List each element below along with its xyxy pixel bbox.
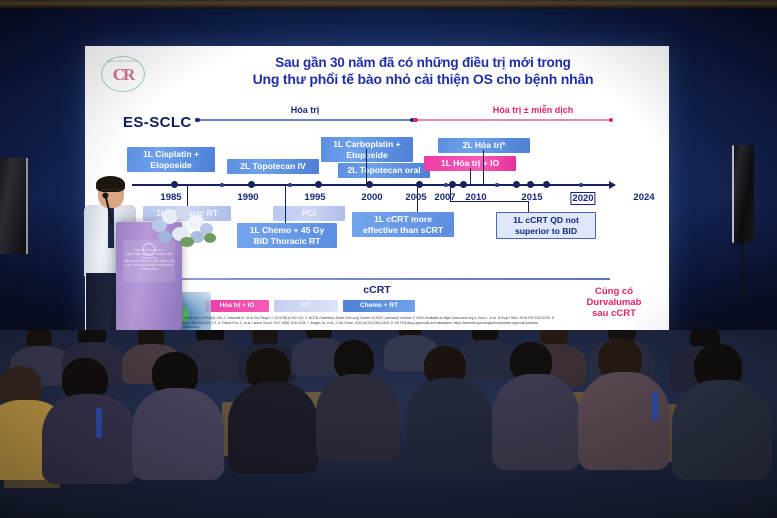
box-label: 2L Topotecan IV xyxy=(231,161,315,172)
minibar-chemo-rt: Chemo + RT xyxy=(343,300,415,312)
bracket-chemo xyxy=(197,119,412,121)
connector-chemo-bid xyxy=(285,186,286,223)
audience-shoulders xyxy=(132,388,224,480)
minibar-rt: RT xyxy=(274,300,338,312)
pa-speaker-left xyxy=(0,158,28,254)
audience-shoulders xyxy=(316,374,400,462)
box-1l-ccrt-qd-not-superior: 1L cCRT QD not superior to BID xyxy=(496,212,596,239)
main-timeline-axis: 1985 1990 1995 2000 2005 2007 2010 2015 … xyxy=(132,184,610,186)
references-text: 1. Tsoukalas N, et al. Ann Transl Med. 2… xyxy=(145,316,555,330)
box-pci: PCI xyxy=(273,206,345,221)
tick-1995 xyxy=(315,181,322,188)
logo-ring-text: BỆNH VIỆN CHỢ RẪY xyxy=(102,60,144,63)
minibar-label: Hóa trị + IO xyxy=(220,302,255,309)
year-2024: 2024 xyxy=(633,192,654,203)
box-1l-cisplatin-etoposide: 1L Cisplatin + Etoposide xyxy=(127,147,215,172)
year-1985: 1985 xyxy=(160,192,181,203)
audience-shoulders xyxy=(42,394,136,484)
audience xyxy=(0,330,777,518)
tick-1990 xyxy=(248,181,255,188)
year-2005: 2005 xyxy=(405,192,426,203)
tick-2000 xyxy=(366,181,373,188)
audience-shoulders xyxy=(578,372,670,470)
tick-minor-5 xyxy=(579,183,583,187)
tick-2007 xyxy=(460,181,467,188)
connector-carboplatin xyxy=(366,149,367,185)
box-label: 2L Topotecan oral xyxy=(342,165,426,176)
box-label: 1L Hóa trị + IO xyxy=(428,158,512,169)
photo-scene: BỆNH VIỆN CHỢ RẪY CR Sau gần 30 năm đã c… xyxy=(0,0,777,518)
connector-ccrt-qd-v1 xyxy=(450,187,451,201)
pa-speaker-stand xyxy=(741,243,744,297)
hospital-logo: BỆNH VIỆN CHỢ RẪY CR xyxy=(101,56,145,92)
audience-lanyard xyxy=(652,392,658,420)
tick-2020b xyxy=(527,181,534,188)
minibar-hoa-tri-io: Hóa trị + IO xyxy=(205,300,269,312)
slide-title-line1: Sau gần 30 năm đã có những điều trị mới … xyxy=(193,55,653,71)
audience-shoulders xyxy=(406,378,492,470)
connector-thoracic-rt xyxy=(187,186,188,206)
connector-ccrt-effective xyxy=(417,186,418,212)
pa-speaker-right xyxy=(732,145,754,243)
logo-monogram: CR xyxy=(113,66,134,83)
tick-1985 xyxy=(171,181,178,188)
audience-shoulders xyxy=(672,380,772,480)
box-1l-ccrt-more-effective: 1L cCRT more effective than sCRT xyxy=(352,212,454,237)
audience-shoulders xyxy=(458,340,514,380)
year-1990: 1990 xyxy=(237,192,258,203)
slide-title-line2: Ung thư phổi tế bào nhỏ cải thiện OS cho… xyxy=(193,71,653,87)
year-2020: 2020 xyxy=(570,192,595,205)
connector-ccrt-qd-v2 xyxy=(528,201,529,212)
connector-1l-io xyxy=(470,168,471,185)
bracket-chemo-label: Hóa trị xyxy=(291,105,320,115)
audience-shoulders xyxy=(492,374,580,470)
es-sclc-label: ES-SCLC xyxy=(123,114,192,131)
box-label: 2L Hóa trị* xyxy=(442,140,526,151)
bracket-chemo-io xyxy=(415,119,611,121)
audience-lanyard xyxy=(96,408,102,438)
year-1995: 1995 xyxy=(304,192,325,203)
box-label: 1L Chemo + 45 Gy BID Thoracic RT xyxy=(241,225,333,246)
tick-2020a xyxy=(513,181,520,188)
durvalumab-note: Củng cố Durvalumab sau cCRT xyxy=(571,286,657,319)
audience-shoulders xyxy=(228,382,318,474)
tick-minor-4 xyxy=(495,183,499,187)
box-label: 1L cCRT QD not superior to BID xyxy=(501,215,591,236)
minibar-label: Chemo + RT xyxy=(360,302,398,309)
box-label: PCI xyxy=(277,208,341,219)
box-2l-topotecan-oral: 2L Topotecan oral xyxy=(338,163,430,178)
minibar-label: RT xyxy=(302,302,311,309)
tick-2020c xyxy=(543,181,550,188)
box-2l-topotecan-iv: 2L Topotecan IV xyxy=(227,159,319,174)
bracket-chemo-io-label: Hóa trị ± miễn dịch xyxy=(493,105,573,115)
tick-minor-2 xyxy=(288,183,292,187)
box-label: 1L cCRT more effective than sCRT xyxy=(356,214,450,235)
box-label: 1L Cisplatin + Etoposide xyxy=(131,149,211,170)
ceiling-beam xyxy=(0,0,777,9)
slide-title: Sau gần 30 năm đã có những điều trị mới … xyxy=(193,55,653,87)
box-1l-chemo-45gy-bid: 1L Chemo + 45 Gy BID Thoracic RT xyxy=(237,223,337,248)
tick-minor-3 xyxy=(444,183,448,187)
flower-arrangement xyxy=(150,205,216,247)
connector-ccrt-qd-h xyxy=(450,201,529,202)
connector-2l-hoa-tri xyxy=(483,150,484,185)
ccrt-axis xyxy=(132,278,610,280)
tick-minor-1 xyxy=(220,183,224,187)
year-2000: 2000 xyxy=(361,192,382,203)
